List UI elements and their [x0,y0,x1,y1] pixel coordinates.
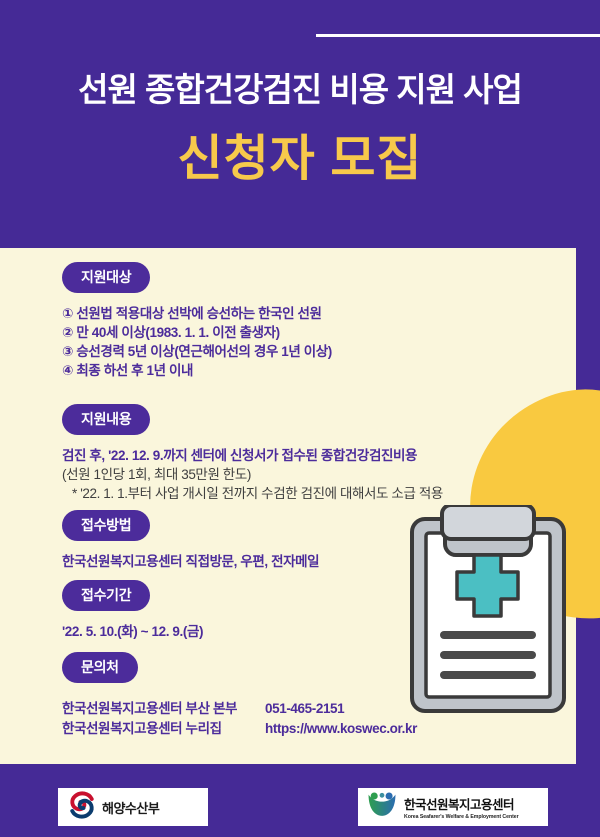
logo-koswec: 한국선원복지고용센터 Korea Seafarer's Welfare & Em… [358,788,548,826]
list-item: ① 선원법 적용대상 선박에 승선하는 한국인 선원 [62,304,332,323]
list-item: (선원 1인당 1회, 최대 35만원 한도) [62,465,443,484]
section-application-period: 접수기간 '22. 5. 10.(화) ~ 12. 9.(금) [62,580,203,641]
section-body: '22. 5. 10.(화) ~ 12. 9.(금) [62,622,203,641]
header-rule [316,34,600,37]
poster-canvas: 선원 종합건강검진 비용 지원 사업 신청자 모집 지원대상 [0,0,600,837]
section-label-application-period: 접수기간 [62,580,150,611]
section-body: 검진 후, '22. 12. 9.까지 센터에 신청서가 접수된 종합건강검진비… [62,446,443,503]
contact-name: 한국선원복지고용센터 부산 본부 [62,699,265,719]
taegeuk-swirl-icon [67,790,97,825]
logo-text-stack: 한국선원복지고용센터 Korea Seafarer's Welfare & Em… [404,794,519,820]
section-body: ① 선원법 적용대상 선박에 승선하는 한국인 선원 ② 만 40세 이상(19… [62,304,332,380]
contact-website-link[interactable]: https://www.koswec.or.kr [265,719,417,739]
smile-face-icon [365,790,399,824]
page-title: 선원 종합건강검진 비용 지원 사업 [0,72,600,108]
section-body: 한국선원복지고용센터 직접방문, 우편, 전자메일 [62,552,319,571]
section-contact: 문의처 한국선원복지고용센터 부산 본부 051-465-2151 한국선원복지… [62,652,417,739]
page-subtitle: 신청자 모집 [0,133,600,187]
section-label-application-method: 접수방법 [62,510,150,541]
contact-name: 한국선원복지고용센터 누리집 [62,719,265,739]
section-support-target: 지원대상 ① 선원법 적용대상 선박에 승선하는 한국인 선원 ② 만 40세 … [62,262,332,380]
section-body: 한국선원복지고용센터 부산 본부 051-465-2151 한국선원복지고용센터… [62,699,417,739]
list-item: ② 만 40세 이상(1983. 1. 1. 이전 출생자) [62,323,332,342]
contact-phone[interactable]: 051-465-2151 [265,699,344,719]
section-label-support-content: 지원내용 [62,404,150,435]
list-item: 한국선원복지고용센터 직접방문, 우편, 전자메일 [62,552,319,571]
contact-row: 한국선원복지고용센터 부산 본부 051-465-2151 [62,699,417,719]
list-item: '22. 5. 10.(화) ~ 12. 9.(금) [62,622,203,641]
logo-label-en: Korea Seafarer's Welfare & Employment Ce… [404,814,519,820]
logo-text-stack: 해양수산부 [102,798,159,817]
section-label-contact: 문의처 [62,652,138,683]
sections-container: 지원대상 ① 선원법 적용대상 선박에 승선하는 한국인 선원 ② 만 40세 … [0,248,576,764]
list-item-note: * '22. 1. 1.부터 사업 개시일 전까지 수검한 검진에 대해서도 소… [62,484,443,503]
contact-row: 한국선원복지고용센터 누리집 https://www.koswec.or.kr [62,719,417,739]
list-item: ④ 최종 하선 후 1년 이내 [62,361,332,380]
section-support-content: 지원내용 검진 후, '22. 12. 9.까지 센터에 신청서가 접수된 종합… [62,404,443,503]
list-item: ③ 승선경력 5년 이상(연근해어선의 경우 1년 이상) [62,342,332,361]
section-label-support-target: 지원대상 [62,262,150,293]
logo-ministry-of-oceans-and-fisheries: 해양수산부 [58,788,208,826]
section-application-method: 접수방법 한국선원복지고용센터 직접방문, 우편, 전자메일 [62,510,319,571]
list-item: 검진 후, '22. 12. 9.까지 센터에 신청서가 접수된 종합건강검진비… [62,446,443,465]
logo-label-kr: 해양수산부 [102,798,159,817]
logo-label-kr: 한국선원복지고용센터 [404,794,519,813]
